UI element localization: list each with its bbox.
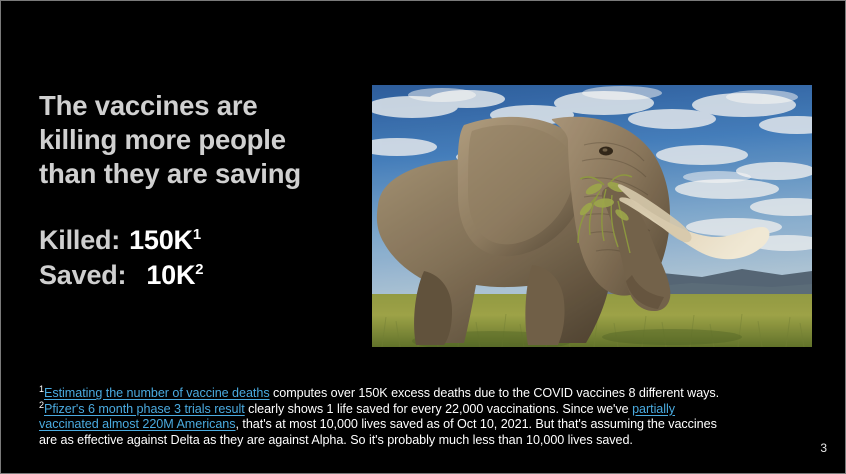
stat-row-saved: Saved:10K2 xyxy=(39,258,359,293)
link-partially[interactable]: partially xyxy=(632,402,675,416)
page-number: 3 xyxy=(820,441,827,455)
link-pfizer-phase3-trials[interactable]: Pfizer's 6 month phase 3 trials result xyxy=(44,402,245,416)
footnote-line-2: 2Pfizer's 6 month phase 3 trials result … xyxy=(39,402,817,418)
footnote-text-4: are as effective against Delta as they a… xyxy=(39,433,633,447)
elephant-photo xyxy=(372,85,812,347)
stat-row-killed: Killed:150K1 xyxy=(39,223,359,258)
stat-superscript-saved: 2 xyxy=(195,262,203,278)
headline-line-2: killing more people xyxy=(39,123,359,157)
headline-line-3: than they are saving xyxy=(39,157,359,191)
footnotes: 1Estimating the number of vaccine deaths… xyxy=(39,386,817,448)
stats-block: Killed:150K1 Saved:10K2 xyxy=(39,223,359,293)
stat-superscript-killed: 1 xyxy=(193,227,201,243)
stat-value-killed: 150K xyxy=(129,223,193,258)
footnote-line-4: are as effective against Delta as they a… xyxy=(39,433,817,449)
footnote-text-1: computes over 150K excess deaths due to … xyxy=(270,386,720,400)
stat-value-saved: 10K xyxy=(146,258,195,293)
slide: The vaccines are killing more people tha… xyxy=(0,0,846,474)
footnote-text-3: , that's at most 10,000 lives saved as o… xyxy=(236,417,717,431)
link-estimating-vaccine-deaths[interactable]: Estimating the number of vaccine deaths xyxy=(44,386,270,400)
footnote-line-1: 1Estimating the number of vaccine deaths… xyxy=(39,386,817,402)
stat-label-killed: Killed: xyxy=(39,223,120,258)
link-vaccinated-220m-americans[interactable]: vaccinated almost 220M Americans xyxy=(39,417,236,431)
footnote-line-3: vaccinated almost 220M Americans, that's… xyxy=(39,417,817,433)
footnote-text-2a: clearly shows 1 life saved for every 22,… xyxy=(245,402,632,416)
page-title: The vaccines are killing more people tha… xyxy=(39,89,359,191)
warm-light-overlay xyxy=(372,85,812,347)
headline-line-1: The vaccines are xyxy=(39,89,359,123)
elephant-illustration xyxy=(372,85,812,347)
stat-label-saved: Saved: xyxy=(39,258,126,293)
